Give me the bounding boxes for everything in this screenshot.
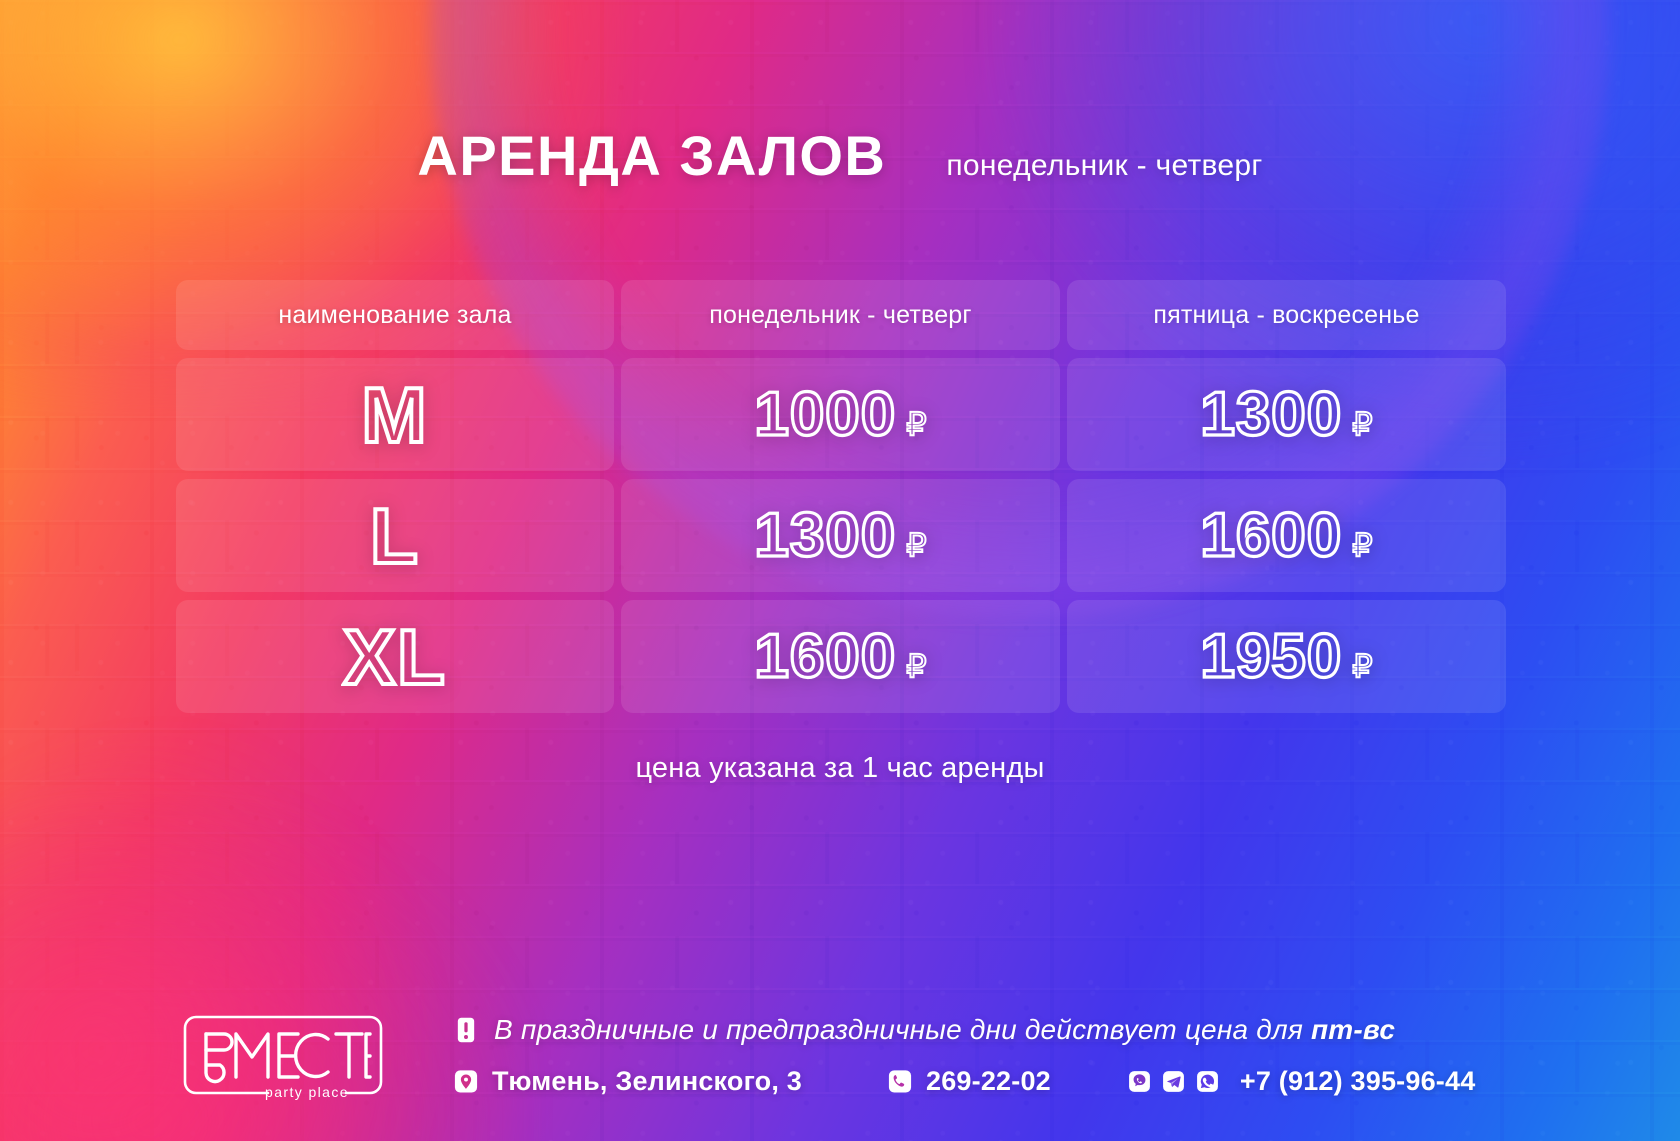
footer-details: В праздничные и предпраздничные дни дейс…: [452, 1014, 1520, 1103]
table-row: L 1300 ₽ 1600 ₽: [176, 479, 1506, 592]
column-header-label: понедельник - четверг: [709, 301, 971, 330]
hall-label: XL: [343, 618, 447, 696]
weekday-price-cell: 1600 ₽: [621, 600, 1060, 713]
address-group[interactable]: Тюмень, Зелинского, 3: [452, 1066, 802, 1097]
hall-name-cell: XL: [176, 600, 614, 713]
currency-symbol: ₽: [1352, 529, 1372, 561]
weekday-price-cell: 1300 ₽: [621, 479, 1060, 592]
column-header-weekday: понедельник - четверг: [621, 280, 1060, 350]
price-value-group: 1600 ₽: [754, 626, 926, 688]
column-header-hall-name: наименование зала: [176, 280, 614, 350]
table-row: XL 1600 ₽ 1950 ₽: [176, 600, 1506, 713]
weekend-price-cell: 1950 ₽: [1067, 600, 1506, 713]
currency-symbol: ₽: [906, 650, 926, 682]
phone-icon: [886, 1068, 914, 1096]
price-value-group: 1000 ₽: [754, 384, 926, 446]
holiday-notice-plain: В праздничные и предпраздничные дни дейс…: [494, 1014, 1311, 1045]
poster-header: АРЕНДА ЗАЛОВ понедельник - четверг: [0, 128, 1680, 184]
holiday-notice: В праздничные и предпраздничные дни дейс…: [452, 1014, 1520, 1046]
hall-name-cell: M: [176, 358, 614, 471]
hall-label: M: [362, 376, 429, 454]
header-subtitle: понедельник - четверг: [946, 151, 1262, 181]
contact-bar: Тюмень, Зелинского, 3 269-22-02: [452, 1066, 1520, 1097]
column-header-label: пятница - воскресенье: [1153, 301, 1419, 330]
hall-name-cell: L: [176, 479, 614, 592]
price-amount: 1300: [754, 505, 896, 567]
currency-symbol: ₽: [906, 408, 926, 440]
holiday-notice-bold: пт-вс: [1311, 1014, 1395, 1045]
exclamation-icon: [452, 1016, 480, 1044]
viber-icon[interactable]: [1127, 1069, 1152, 1094]
holiday-notice-text: В праздничные и предпраздничные дни дейс…: [494, 1014, 1395, 1046]
poster-footer: party place В праздничные и предпразднич…: [176, 1007, 1520, 1103]
address-text: Тюмень, Зелинского, 3: [492, 1066, 802, 1097]
column-header-label: наименование зала: [278, 301, 511, 330]
price-amount: 1600: [754, 626, 896, 688]
weekend-price-cell: 1600 ₽: [1067, 479, 1506, 592]
currency-symbol: ₽: [906, 529, 926, 561]
price-amount: 1300: [1200, 384, 1342, 446]
table-row: M 1000 ₽ 1300 ₽: [176, 358, 1506, 471]
messenger-icon-group: [1127, 1069, 1220, 1094]
price-value-group: 1300 ₽: [754, 505, 926, 567]
logo-tagline: party place: [265, 1084, 349, 1100]
map-pin-icon: [452, 1068, 480, 1096]
telegram-icon[interactable]: [1161, 1069, 1186, 1094]
price-amount: 1600: [1200, 505, 1342, 567]
local-phone-text: 269-22-02: [926, 1066, 1051, 1097]
page-title: АРЕНДА ЗАЛОВ: [417, 128, 886, 184]
price-value-group: 1300 ₽: [1200, 384, 1372, 446]
price-value-group: 1600 ₽: [1200, 505, 1372, 567]
mobile-phone-text: +7 (912) 395-96-44: [1240, 1066, 1476, 1097]
column-header-weekend: пятница - воскресенье: [1067, 280, 1506, 350]
pricing-poster: АРЕНДА ЗАЛОВ понедельник - четверг наиме…: [0, 0, 1680, 1141]
pricing-table: наименование зала понедельник - четверг …: [176, 280, 1506, 713]
whatsapp-icon[interactable]: [1195, 1069, 1220, 1094]
price-value-group: 1950 ₽: [1200, 626, 1372, 688]
table-header-row: наименование зала понедельник - четверг …: [176, 280, 1506, 350]
currency-symbol: ₽: [1352, 650, 1372, 682]
poster-content: АРЕНДА ЗАЛОВ понедельник - четверг наиме…: [0, 0, 1680, 1141]
weekend-price-cell: 1300 ₽: [1067, 358, 1506, 471]
currency-symbol: ₽: [1352, 408, 1372, 440]
local-phone-group[interactable]: 269-22-02: [886, 1066, 1051, 1097]
mobile-phone-group[interactable]: +7 (912) 395-96-44: [1240, 1066, 1476, 1097]
brand-logo[interactable]: party place: [176, 1007, 390, 1103]
price-amount: 1000: [754, 384, 896, 446]
hall-label: L: [370, 497, 420, 575]
weekday-price-cell: 1000 ₽: [621, 358, 1060, 471]
price-amount: 1950: [1200, 626, 1342, 688]
table-note: цена указана за 1 час аренды: [0, 752, 1680, 785]
